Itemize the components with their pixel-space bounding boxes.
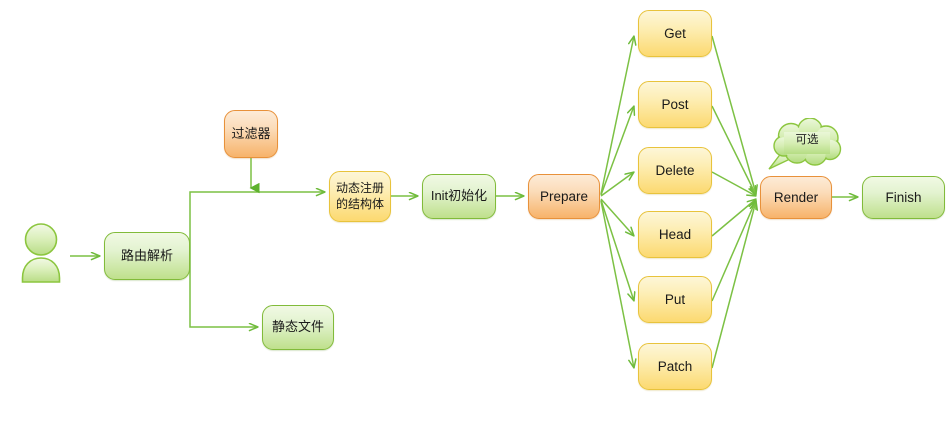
flowchart-canvas: 路由解析 过滤器 静态文件 动态注册 的结构体 Init初始化 Prepare … bbox=[0, 0, 951, 448]
node-dynamic-register-struct[interactable]: 动态注册 的结构体 bbox=[329, 171, 391, 222]
node-label: 路由解析 bbox=[121, 248, 173, 265]
node-label: Post bbox=[661, 96, 688, 113]
node-label: Render bbox=[774, 189, 818, 206]
cloud-label: 可选 bbox=[764, 131, 850, 147]
edge-head-render bbox=[712, 199, 756, 236]
node-label: Patch bbox=[658, 358, 693, 375]
node-method-head[interactable]: Head bbox=[638, 211, 712, 258]
node-label: Put bbox=[665, 291, 685, 308]
edge-prepare-delete bbox=[601, 172, 634, 196]
edge-prepare-post bbox=[601, 106, 634, 195]
edge-prepare-patch bbox=[601, 201, 634, 368]
edge-put-render bbox=[712, 200, 756, 301]
edge-layer bbox=[0, 0, 951, 448]
node-label: 动态注册 的结构体 bbox=[336, 181, 384, 212]
node-static-file[interactable]: 静态文件 bbox=[262, 305, 334, 350]
edge-route-register bbox=[190, 192, 325, 256]
node-prepare[interactable]: Prepare bbox=[528, 174, 600, 219]
node-method-delete[interactable]: Delete bbox=[638, 147, 712, 194]
edge-prepare-get bbox=[601, 36, 634, 194]
edge-delete-render bbox=[712, 172, 756, 196]
edge-post-render bbox=[712, 106, 756, 195]
node-init[interactable]: Init初始化 bbox=[422, 174, 496, 219]
edge-prepare-head bbox=[601, 199, 634, 236]
node-label: Init初始化 bbox=[431, 188, 487, 205]
cloud-shape bbox=[764, 118, 850, 184]
node-label: Finish bbox=[885, 189, 921, 206]
edge-route-static bbox=[190, 256, 258, 327]
node-label: Prepare bbox=[540, 188, 588, 205]
edge-prepare-put bbox=[601, 200, 634, 301]
node-route-parse[interactable]: 路由解析 bbox=[104, 232, 190, 280]
node-method-get[interactable]: Get bbox=[638, 10, 712, 57]
node-label: 过滤器 bbox=[231, 126, 270, 143]
node-finish[interactable]: Finish bbox=[862, 176, 945, 219]
node-label: 静态文件 bbox=[272, 319, 324, 336]
node-label: Delete bbox=[655, 162, 694, 179]
node-method-put[interactable]: Put bbox=[638, 276, 712, 323]
node-label: Head bbox=[659, 226, 691, 243]
user-actor-icon bbox=[14, 222, 68, 284]
node-method-post[interactable]: Post bbox=[638, 81, 712, 128]
edge-get-render bbox=[712, 36, 756, 194]
node-filter[interactable]: 过滤器 bbox=[224, 110, 278, 158]
node-method-patch[interactable]: Patch bbox=[638, 343, 712, 390]
edge-patch-render bbox=[712, 201, 756, 368]
optional-cloud-callout[interactable]: 可选 bbox=[764, 118, 850, 184]
node-label: Get bbox=[664, 25, 686, 42]
